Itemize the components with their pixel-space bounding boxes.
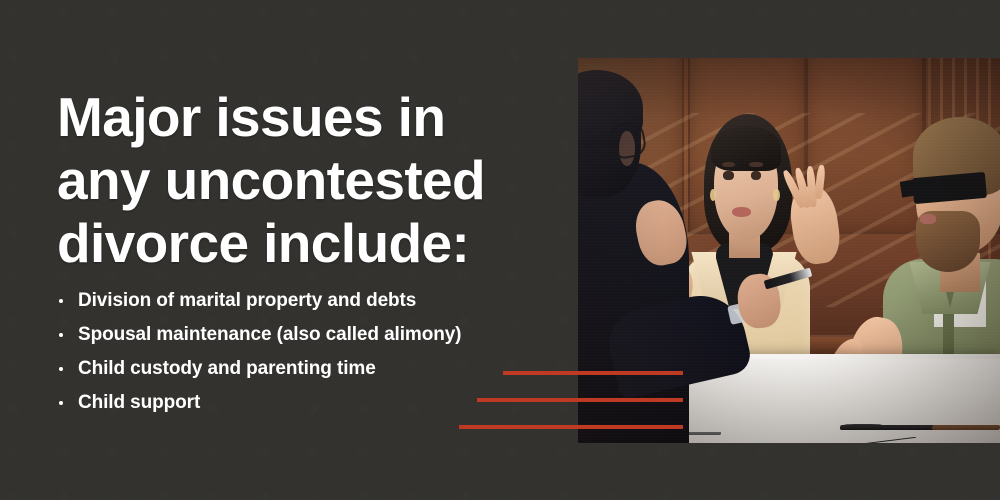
- page-title: Major issues in any uncontested divorce …: [57, 86, 527, 275]
- photo-scene: [578, 58, 1000, 443]
- pen-on-table: [865, 436, 915, 443]
- accent-rule-2: [477, 398, 683, 402]
- issues-list: Division of marital property and debts S…: [57, 289, 527, 425]
- finger: [814, 164, 825, 199]
- accent-rule-1: [503, 371, 683, 375]
- man-in-dark-suit: [578, 58, 755, 443]
- headline-line-1: Major issues in: [57, 86, 527, 149]
- text-column: Major issues in any uncontested divorce …: [57, 86, 527, 275]
- list-item: Spousal maintenance (also called alimony…: [57, 323, 527, 347]
- list-item: Division of marital property and debts: [57, 289, 527, 313]
- list-item: Child support: [57, 391, 527, 415]
- folder-on-table: [932, 425, 1000, 430]
- list-item: Child custody and parenting time: [57, 357, 527, 381]
- banner-canvas: Major issues in any uncontested divorce …: [0, 0, 1000, 500]
- man-right-lips: [920, 214, 935, 224]
- accent-rule-3: [459, 425, 683, 429]
- woman-earring-right: [773, 189, 779, 201]
- headline-line-3: divorce include:: [57, 212, 527, 275]
- headline-line-2: any uncontested: [57, 149, 527, 212]
- meeting-photograph: [578, 58, 1000, 443]
- notebook-on-table: [839, 425, 941, 430]
